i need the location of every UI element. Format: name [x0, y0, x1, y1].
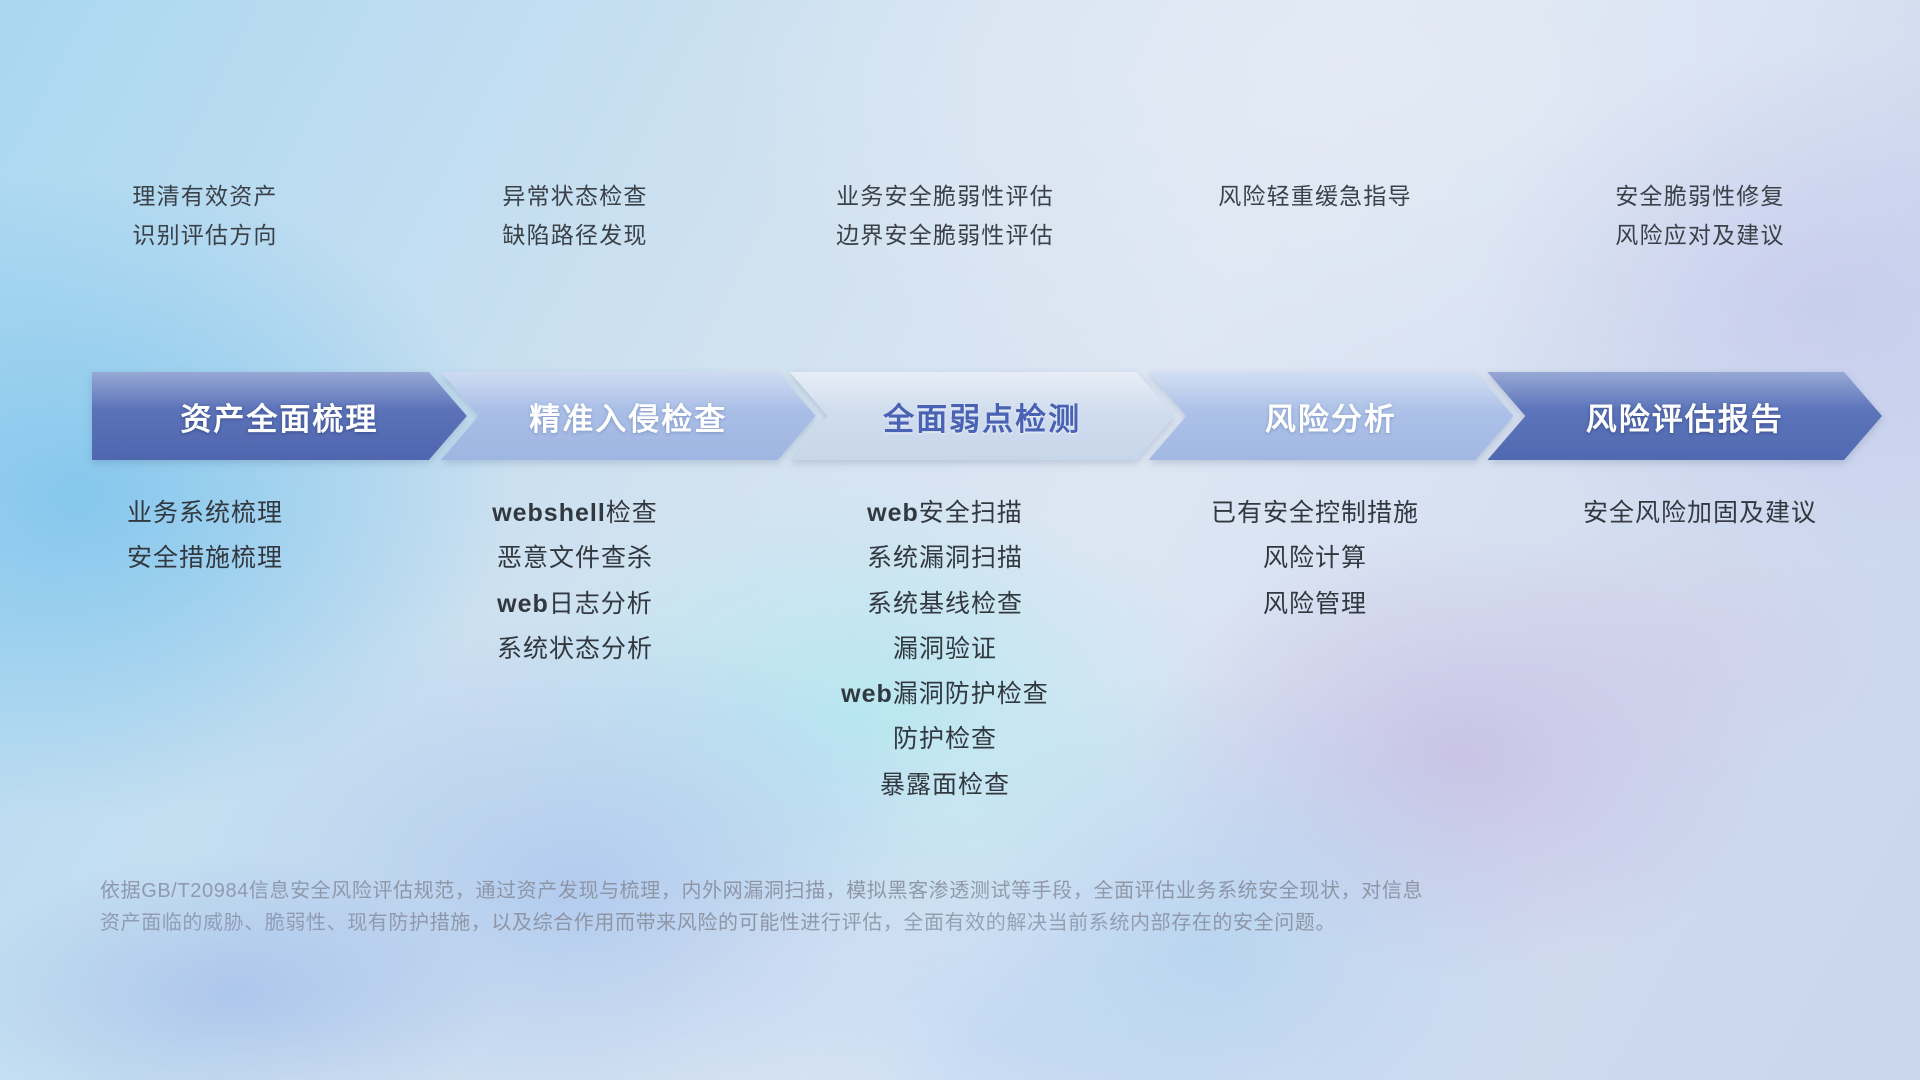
process-step-3[interactable]: 全面弱点检测: [790, 372, 1175, 460]
footer-line-1: 依据GB/T20984信息安全风险评估规范，通过资产发现与梳理，内外网漏洞扫描，…: [100, 875, 1600, 907]
detail-item-keyword: webshell: [492, 499, 606, 527]
detail-item: 系统状态分析: [497, 636, 653, 662]
detail-item: 业务系统梳理: [127, 500, 283, 526]
process-step-4[interactable]: 风险分析: [1148, 372, 1513, 460]
top-caption-line: 业务安全脆弱性评估: [836, 185, 1054, 208]
process-step-label: 风险分析: [1265, 394, 1397, 439]
top-caption-column: 风险轻重缓急指导: [1130, 185, 1500, 247]
top-caption-line: 边界安全脆弱性评估: [836, 224, 1054, 247]
detail-item: 安全措施梳理: [127, 545, 283, 571]
footer-line-2: 资产面临的威胁、脆弱性、现有防护措施，以及综合作用而带来风险的可能性进行评估，全…: [100, 907, 1600, 939]
top-caption-column: 安全脆弱性修复风险应对及建议: [1500, 185, 1900, 247]
detail-column: webshell检查恶意文件查杀web日志分析系统状态分析: [390, 500, 760, 662]
detail-column: 业务系统梳理安全措施梳理: [20, 500, 390, 572]
detail-item-keyword: web: [497, 590, 549, 618]
top-caption-column: 理清有效资产识别评估方向: [20, 185, 390, 247]
top-caption-column: 业务安全脆弱性评估边界安全脆弱性评估: [760, 185, 1130, 247]
detail-item: web漏洞防护检查: [841, 681, 1049, 707]
detail-item-text: 检查: [606, 499, 658, 527]
detail-item: 已有安全控制措施: [1211, 500, 1419, 526]
top-caption-line: 风险应对及建议: [1615, 224, 1784, 247]
detail-column: 已有安全控制措施风险计算风险管理: [1130, 500, 1500, 617]
top-caption-line: 理清有效资产: [132, 185, 277, 208]
detail-item: 风险管理: [1263, 591, 1367, 617]
top-caption-line: 风险轻重缓急指导: [1218, 185, 1412, 208]
detail-item: 系统基线检查: [867, 591, 1023, 617]
detail-item-text: 日志分析: [549, 590, 653, 618]
process-chevron-ribbon: 资产全面梳理精准入侵检查全面弱点检测风险分析风险评估报告: [92, 372, 1882, 460]
process-step-label: 精准入侵检查: [529, 394, 727, 439]
process-step-label: 风险评估报告: [1586, 394, 1784, 439]
top-caption-line: 安全脆弱性修复: [1615, 185, 1784, 208]
detail-item: web安全扫描: [867, 500, 1023, 526]
detail-item: 暴露面检查: [880, 772, 1010, 798]
detail-item: web日志分析: [497, 591, 653, 617]
top-caption-column: 异常状态检查缺陷路径发现: [390, 185, 760, 247]
detail-item: 恶意文件查杀: [497, 545, 653, 571]
detail-column: web安全扫描系统漏洞扫描系统基线检查漏洞验证web漏洞防护检查防护检查暴露面检…: [760, 500, 1130, 798]
top-caption-line: 识别评估方向: [132, 224, 277, 247]
detail-column: 安全风险加固及建议: [1500, 500, 1900, 526]
top-caption-row: 理清有效资产识别评估方向异常状态检查缺陷路径发现业务安全脆弱性评估边界安全脆弱性…: [0, 185, 1920, 247]
process-step-label: 资产全面梳理: [180, 394, 378, 439]
slide-canvas: 理清有效资产识别评估方向异常状态检查缺陷路径发现业务安全脆弱性评估边界安全脆弱性…: [0, 0, 1920, 1080]
detail-item: 防护检查: [893, 726, 997, 752]
top-caption-line: 异常状态检查: [502, 185, 647, 208]
process-step-label: 全面弱点检测: [883, 394, 1081, 439]
detail-item: 系统漏洞扫描: [867, 545, 1023, 571]
detail-item-text: 漏洞防护检查: [893, 680, 1049, 708]
detail-item: 漏洞验证: [893, 636, 997, 662]
bottom-detail-row: 业务系统梳理安全措施梳理webshell检查恶意文件查杀web日志分析系统状态分…: [0, 500, 1920, 798]
process-step-2[interactable]: 精准入侵检查: [441, 372, 816, 460]
detail-item: 风险计算: [1263, 545, 1367, 571]
process-step-1[interactable]: 资产全面梳理: [92, 372, 467, 460]
detail-item: webshell检查: [492, 500, 658, 526]
detail-item-keyword: web: [841, 680, 893, 708]
footer-description: 依据GB/T20984信息安全风险评估规范，通过资产发现与梳理，内外网漏洞扫描，…: [100, 875, 1600, 940]
top-caption-line: 缺陷路径发现: [502, 224, 647, 247]
process-step-5[interactable]: 风险评估报告: [1487, 372, 1882, 460]
detail-item-keyword: web: [867, 499, 919, 527]
detail-item: 安全风险加固及建议: [1583, 500, 1817, 526]
detail-item-text: 安全扫描: [919, 499, 1023, 527]
